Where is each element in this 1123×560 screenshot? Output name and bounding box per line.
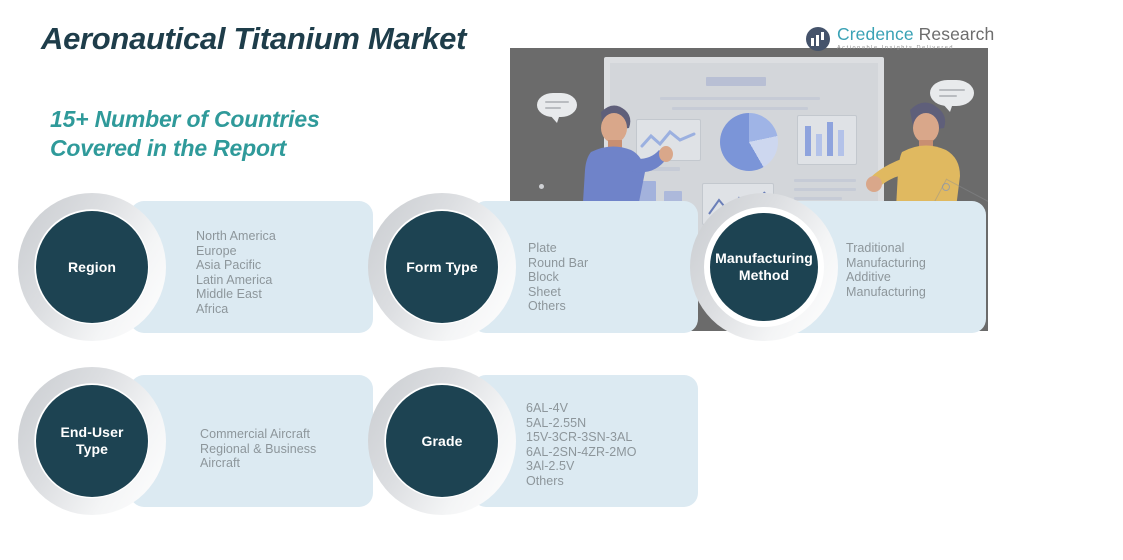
logo-name: Credence Research [837, 26, 994, 44]
card-circle-region[interactable]: Region [36, 211, 148, 323]
card-item-list: Plate Round Bar Block Sheet Others [528, 241, 678, 314]
page-title: Aeronautical Titanium Market [41, 21, 466, 57]
card-circle-label: Manufacturing Method [715, 250, 813, 284]
category-card-form-type[interactable]: Form Type Plate Round Bar Block Sheet Ot… [368, 193, 698, 341]
page-subtitle: 15+ Number of Countries Covered in the R… [50, 105, 320, 163]
card-circle-grade[interactable]: Grade [386, 385, 498, 497]
bar-chart-icon [798, 116, 856, 164]
category-card-end-user-type[interactable]: End-User Type Commercial Aircraft Region… [18, 367, 358, 515]
card-label-line-1: Region [68, 259, 116, 275]
card-label-line-2: Method [739, 267, 789, 283]
card-circle-label: Form Type [406, 259, 477, 276]
card-item-list: 6AL-4V 5AL-2.55N 15V-3CR-3SN-3AL 6AL-2SN… [526, 401, 696, 489]
category-card-region[interactable]: Region North America Europe Asia Pacific… [18, 193, 358, 341]
subtitle-line-2: Covered in the Report [50, 134, 320, 163]
subtitle-line-1: 15+ Number of Countries [50, 106, 320, 132]
speech-bubble-right-icon [930, 80, 974, 106]
card-label-line-1: Form Type [406, 259, 477, 275]
card-circle-label: End-User Type [60, 424, 123, 458]
card-label-line-1: End-User [60, 424, 123, 440]
card-label-line-2: Type [76, 441, 108, 457]
card-circle-label: Grade [422, 433, 463, 450]
card-label-line-1: Grade [422, 433, 463, 449]
card-label-line-1: Manufacturing [715, 250, 813, 266]
logo-tagline: Actionable Insights Delivered [837, 46, 994, 52]
speech-bubble-left-icon [537, 93, 577, 117]
pie-chart-icon [720, 113, 778, 171]
card-circle-label: Region [68, 259, 116, 276]
card-circle-form-type[interactable]: Form Type [386, 211, 498, 323]
card-circle-end-user-type[interactable]: End-User Type [36, 385, 148, 497]
category-card-manufacturing-method[interactable]: Manufacturing Method Traditional Manufac… [690, 193, 986, 341]
category-card-grade[interactable]: Grade 6AL-4V 5AL-2.55N 15V-3CR-3SN-3AL 6… [368, 367, 698, 515]
infographic-slide: Aeronautical Titanium Market 15+ Number … [0, 0, 1123, 560]
logo-name-part1: Credence [837, 24, 914, 44]
card-item-list: Traditional Manufacturing Additive Manuf… [846, 241, 988, 299]
logo-name-part2: Research [914, 24, 995, 44]
decor-dot-icon [539, 184, 544, 189]
card-circle-manufacturing-method[interactable]: Manufacturing Method [710, 213, 818, 321]
brand-logo[interactable]: Credence Research Actionable Insights De… [806, 26, 994, 51]
card-item-list: Commercial Aircraft Regional & Business … [200, 427, 360, 471]
logo-text: Credence Research Actionable Insights De… [837, 26, 994, 51]
bar-chart-circle-icon [806, 27, 830, 51]
card-item-list: North America Europe Asia Pacific Latin … [196, 229, 356, 317]
